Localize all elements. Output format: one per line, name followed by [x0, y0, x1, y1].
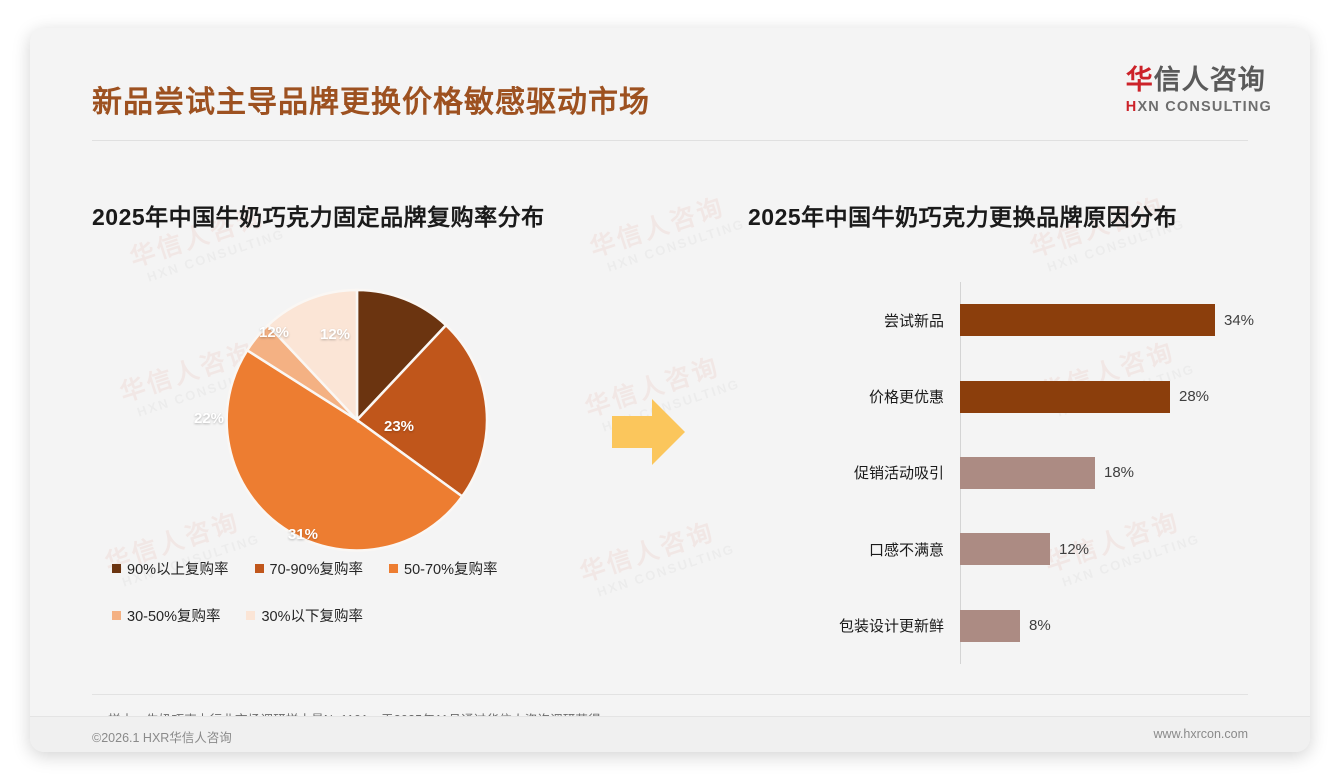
bar-fill-1[interactable] [960, 381, 1170, 413]
slide-footer: ©2026.1 HXR华信人咨询 www.hxrcon.com [30, 716, 1310, 752]
bar-chart-title: 2025年中国牛奶巧克力更换品牌原因分布 [748, 198, 1177, 232]
legend-item-0[interactable]: 90%以上复购率 [112, 558, 229, 579]
bar-value-label-4: 8% [1029, 617, 1051, 634]
slide: 华信人咨询HXN CONSULTING 华信人咨询HXN CONSULTING … [30, 28, 1310, 752]
legend-swatch-icon [112, 611, 121, 620]
bar-fill-4[interactable] [960, 610, 1020, 642]
legend-swatch-icon [112, 564, 121, 573]
bar-track: 12% [952, 511, 1270, 587]
bar-value-label-3: 12% [1059, 541, 1089, 558]
bar-track: 34% [952, 282, 1270, 358]
bar-category-label-0: 尝试新品 [730, 310, 952, 331]
pie-slice-label-4: 12% [259, 324, 289, 341]
pie-slice-label-2: 31% [288, 526, 318, 543]
bar-category-label-2: 促销活动吸引 [730, 462, 952, 483]
bar-category-label-3: 口感不满意 [730, 539, 952, 560]
slide-header: 新品尝试主导品牌更换价格敏感驱动市场 华信人咨询 HXN CONSULTING [30, 28, 1310, 124]
legend-label-2: 50-70%复购率 [404, 558, 497, 579]
footnote-divider [92, 694, 1248, 695]
header-divider [92, 140, 1248, 141]
pie-legend: 90%以上复购率 70-90%复购率 50-70%复购率 30-50%复购率 3… [112, 558, 632, 626]
bar-value-label-1: 28% [1179, 388, 1209, 405]
legend-item-1[interactable]: 70-90%复购率 [255, 558, 363, 579]
bar-track: 8% [952, 588, 1270, 664]
logo-letter-h: H [1126, 99, 1138, 115]
legend-swatch-icon [246, 611, 255, 620]
legend-label-3: 30-50%复购率 [127, 605, 220, 626]
bar-chart: 尝试新品 34% 价格更优惠 28% 促销活动吸引 18% [730, 258, 1270, 678]
footer-copyright: ©2026.1 HXR华信人咨询 [92, 727, 232, 746]
pie-slice-label-1: 23% [384, 418, 414, 435]
bar-row: 促销活动吸引 18% [730, 435, 1270, 511]
watermark-cn: 华信人咨询 [587, 190, 741, 261]
legend-item-4[interactable]: 30%以下复购率 [246, 605, 363, 626]
pie-chart-title: 2025年中国牛奶巧克力固定品牌复购率分布 [92, 198, 545, 232]
pie-slice-label-0: 12% [320, 326, 350, 343]
logo-letters-rest: XN CONSULTING [1137, 99, 1272, 115]
bar-track: 28% [952, 358, 1270, 434]
bar-row: 尝试新品 34% [730, 282, 1270, 358]
brand-logo: 华信人咨询 HXN CONSULTING [1126, 66, 1272, 115]
arrow-right-icon [610, 396, 688, 473]
pie-chart: 12% 23% 31% 22% 12% 90%以上复购率 70-90%复购率 5… [92, 258, 652, 678]
footer-website[interactable]: www.hxrcon.com [1154, 727, 1248, 741]
logo-char-hua: 华 [1126, 65, 1154, 95]
legend-item-2[interactable]: 50-70%复购率 [389, 558, 497, 579]
bar-fill-2[interactable] [960, 457, 1095, 489]
legend-label-1: 70-90%复购率 [270, 558, 363, 579]
legend-label-4: 30%以下复购率 [261, 605, 363, 626]
bar-category-label-4: 包装设计更新鲜 [730, 615, 952, 636]
bar-row: 口感不满意 12% [730, 511, 1270, 587]
bar-row: 价格更优惠 28% [730, 358, 1270, 434]
logo-chars-rest: 信人咨询 [1154, 65, 1266, 95]
bar-value-label-0: 34% [1224, 312, 1254, 329]
bar-fill-3[interactable] [960, 533, 1050, 565]
legend-swatch-icon [255, 564, 264, 573]
bar-track: 18% [952, 435, 1270, 511]
bar-fill-0[interactable] [960, 304, 1215, 336]
legend-item-3[interactable]: 30-50%复购率 [112, 605, 220, 626]
logo-english-text: HXN CONSULTING [1126, 99, 1272, 115]
bar-row: 包装设计更新鲜 8% [730, 588, 1270, 664]
legend-label-0: 90%以上复购率 [127, 558, 229, 579]
bar-category-label-1: 价格更优惠 [730, 386, 952, 407]
bar-value-label-2: 18% [1104, 464, 1134, 481]
page-title: 新品尝试主导品牌更换价格敏感驱动市场 [92, 88, 650, 118]
logo-chinese-text: 华信人咨询 [1126, 66, 1272, 94]
pie-slice-label-3: 22% [194, 410, 224, 427]
pie-chart-svg [217, 280, 497, 560]
legend-swatch-icon [389, 564, 398, 573]
bar-chart-rows: 尝试新品 34% 价格更优惠 28% 促销活动吸引 18% [730, 282, 1270, 664]
